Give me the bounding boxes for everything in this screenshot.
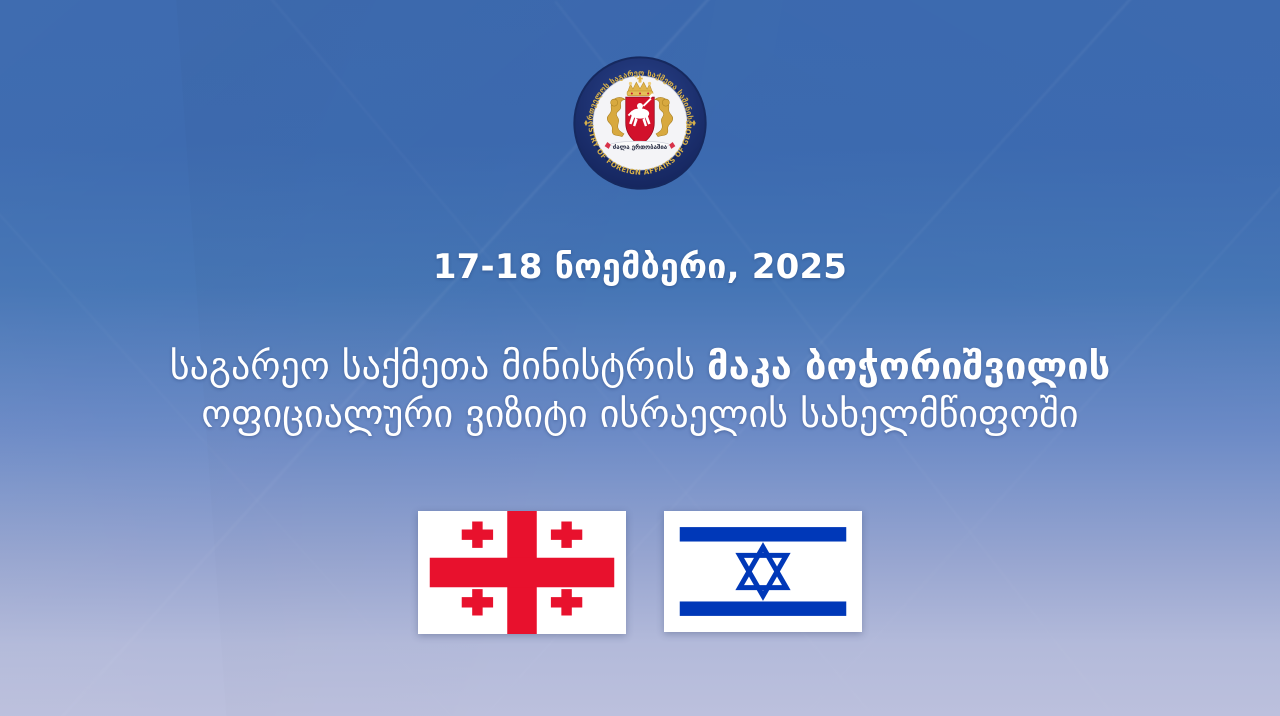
headline-line-2: ოფიციალური ვიზიტი ისრაელის სახელმწიფოში (0, 391, 1280, 439)
flag-israel (664, 511, 862, 632)
event-date: 17-18 ნოემბერი, 2025 (0, 247, 1280, 287)
page-title: საგარეო საქმეთა მინისტრის მაკა ბოჭორიშვი… (0, 343, 1280, 439)
headline-line-1-regular: საგარეო საქმეთა მინისტრის (170, 344, 707, 388)
minister-name: მაკა ბოჭორიშვილის (707, 344, 1110, 388)
flag-israel-bottom-stripe (680, 601, 847, 615)
flag-israel-top-stripe (680, 527, 847, 541)
headline-line-1: საგარეო საქმეთა მინისტრის მაკა ბოჭორიშვი… (0, 343, 1280, 391)
flag-georgia (418, 511, 626, 634)
announcement-banner: საქართველოს საგარეო საქმეთა სამინისტრო M… (0, 0, 1280, 716)
motto-text: ძალა ერთობაშია (613, 143, 668, 151)
ministry-emblem: საქართველოს საგარეო საქმეთა სამინისტრო M… (572, 55, 708, 191)
flags-row (0, 511, 1280, 634)
coat-of-arms-shield (626, 93, 655, 145)
